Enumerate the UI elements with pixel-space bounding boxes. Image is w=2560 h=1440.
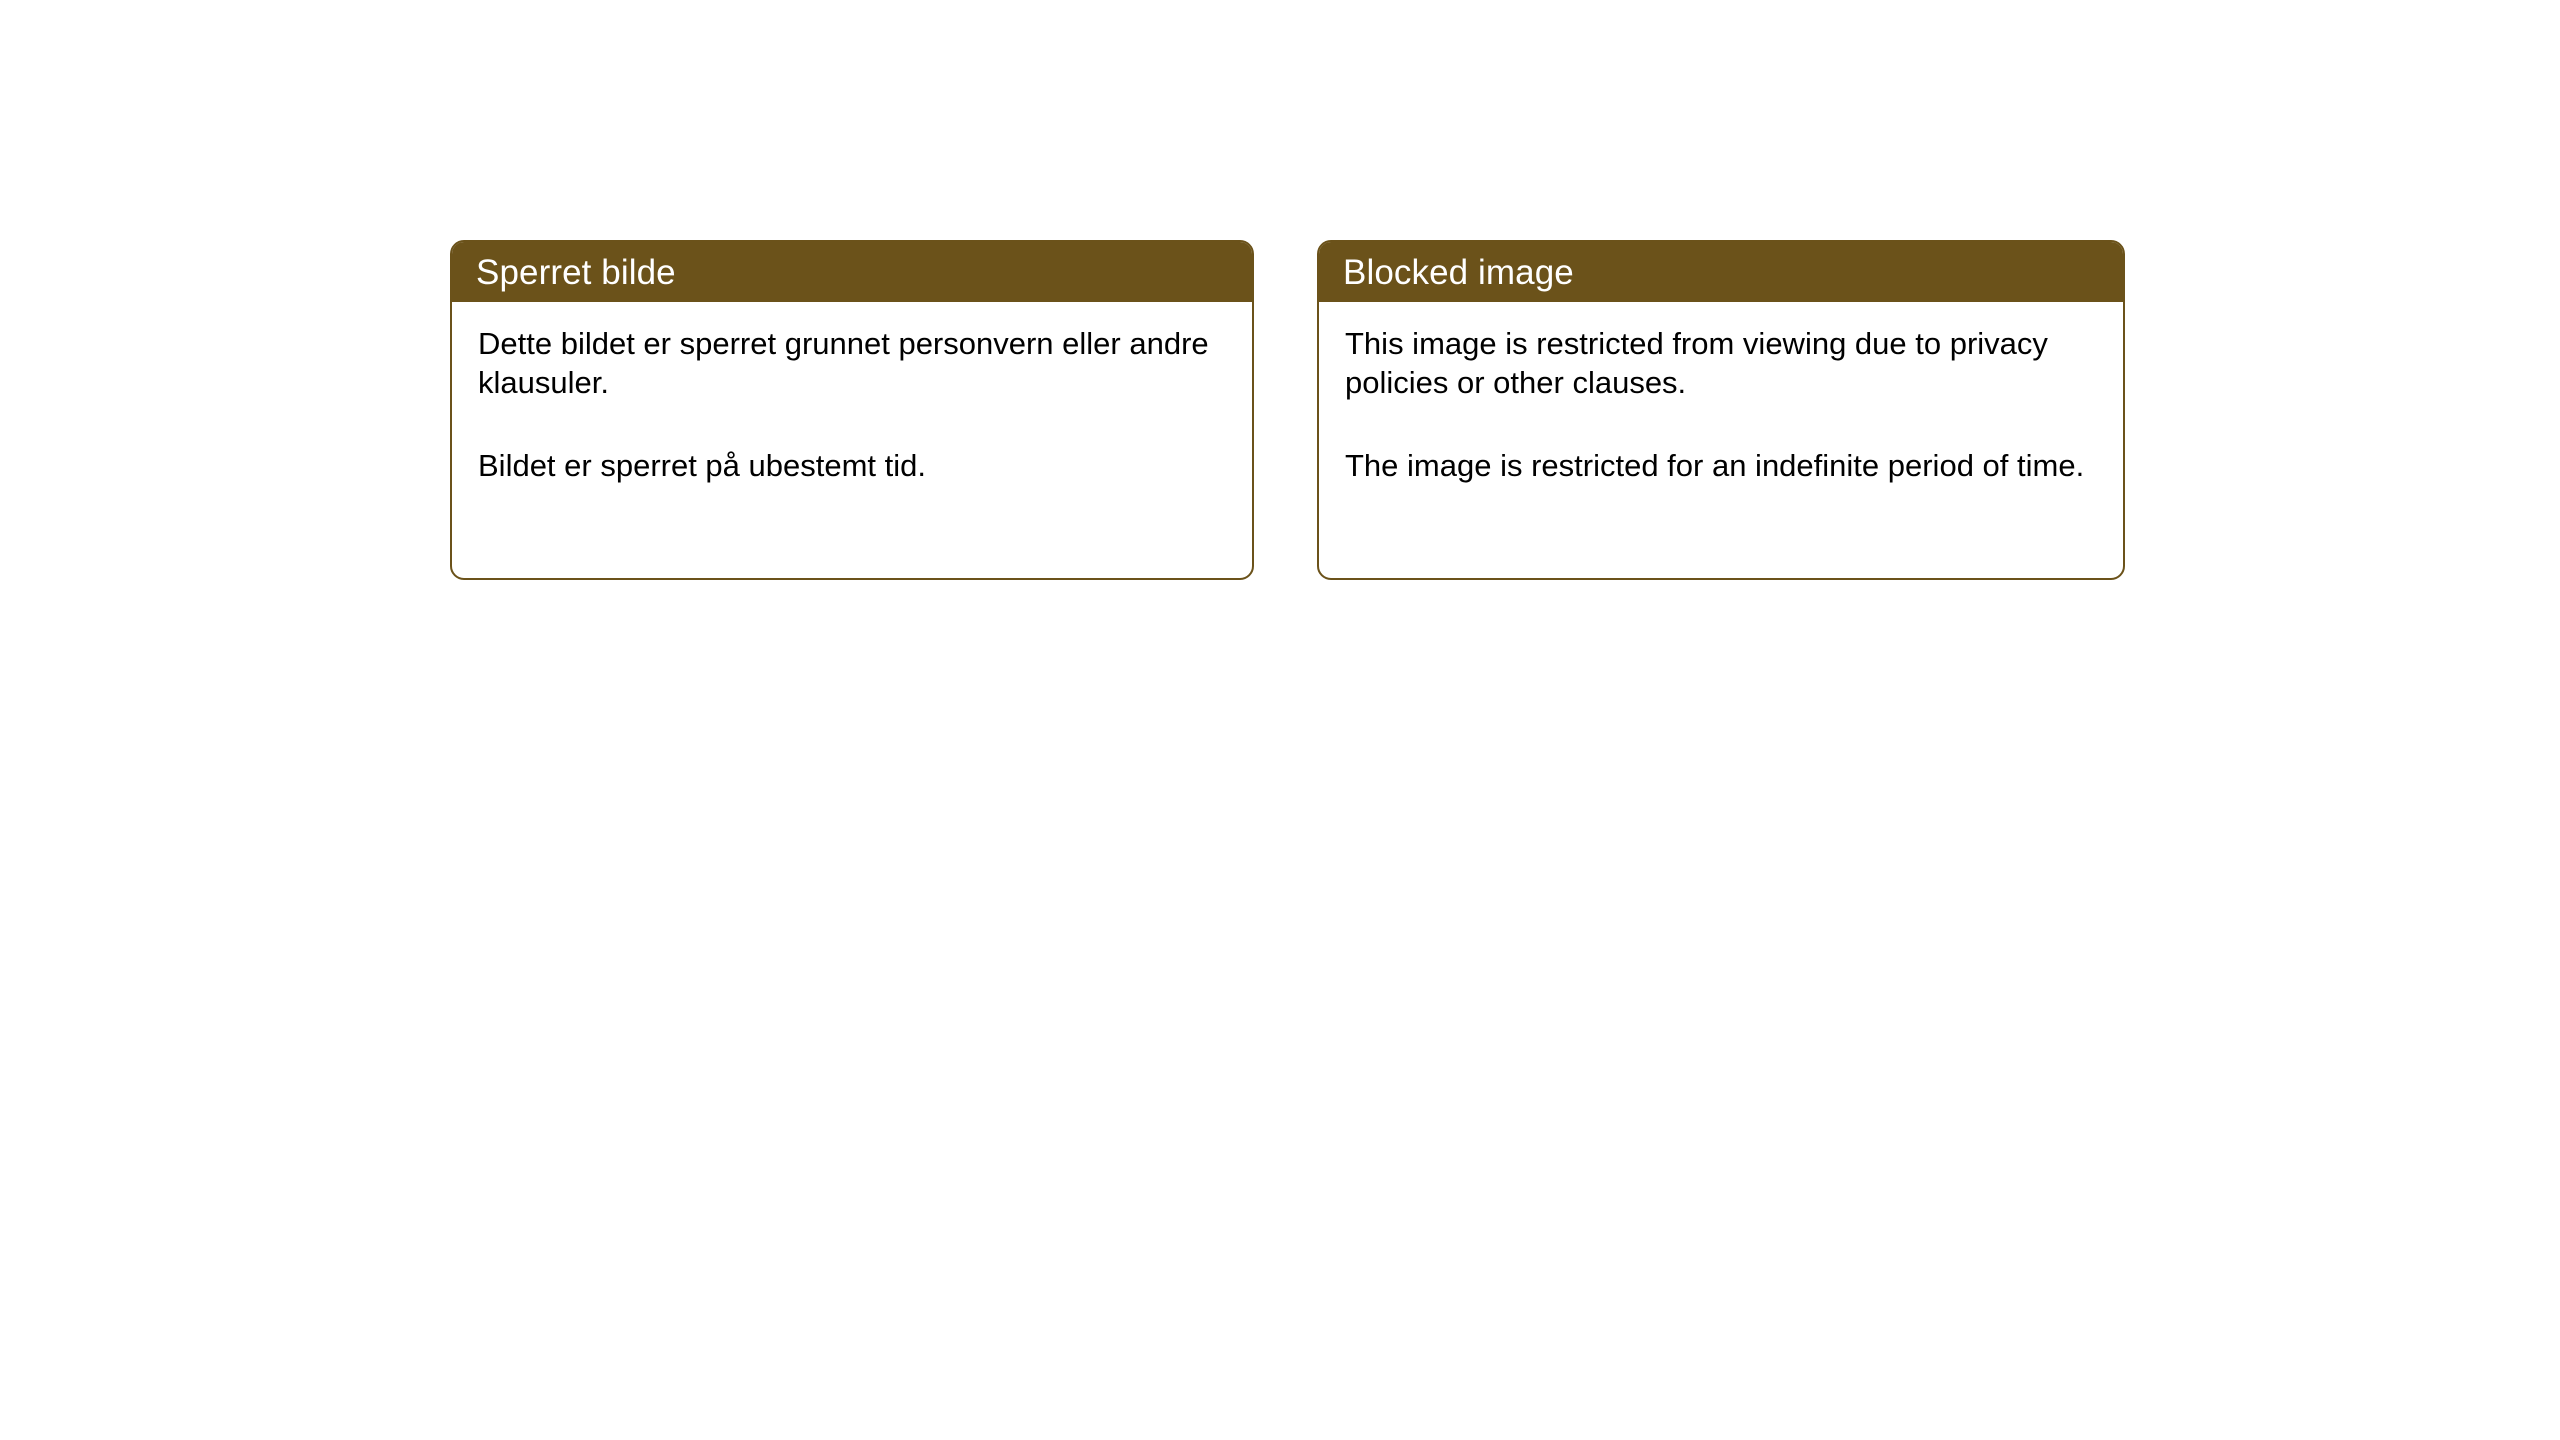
panel-title-english: Blocked image — [1343, 255, 1574, 290]
blocked-image-notice-norwegian: Sperret bilde Dette bildet er sperret gr… — [450, 240, 1254, 580]
panel-paragraph-duration-norwegian: Bildet er sperret på ubestemt tid. — [478, 446, 1226, 485]
panel-paragraph-privacy-norwegian: Dette bildet er sperret grunnet personve… — [478, 324, 1226, 403]
panel-paragraph-duration-english: The image is restricted for an indefinit… — [1345, 446, 2097, 485]
panel-body-english: This image is restricted from viewing du… — [1319, 302, 2123, 485]
panel-body-norwegian: Dette bildet er sperret grunnet personve… — [452, 302, 1252, 485]
panel-title-norwegian: Sperret bilde — [476, 255, 676, 290]
panel-header-english: Blocked image — [1319, 242, 2123, 302]
panel-paragraph-privacy-english: This image is restricted from viewing du… — [1345, 324, 2097, 403]
blocked-image-notice-english: Blocked image This image is restricted f… — [1317, 240, 2125, 580]
page-stage: Sperret bilde Dette bildet er sperret gr… — [0, 0, 2560, 1440]
panel-header-norwegian: Sperret bilde — [452, 242, 1252, 302]
